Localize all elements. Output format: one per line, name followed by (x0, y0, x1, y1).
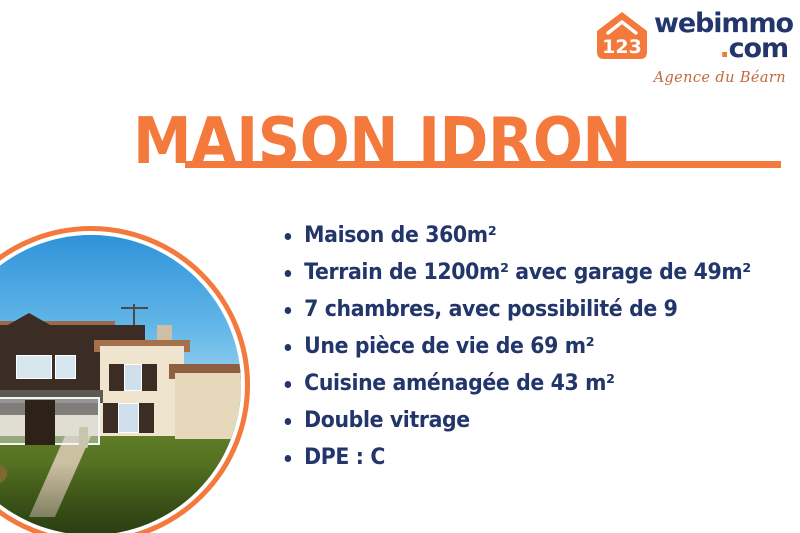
photo-window-wing-upper (124, 364, 142, 391)
photo-entrance-door (25, 400, 55, 445)
photo-garage (175, 373, 241, 439)
photo-flower-pot (187, 499, 214, 523)
brand-logo[interactable]: 123 webimmo .com Agence du Béarn (590, 8, 790, 104)
list-item: Une pièce de vie de 69 m² (280, 333, 750, 361)
logo-word-com: .com (719, 35, 788, 63)
photo-antenna-bar (121, 307, 148, 309)
logo-tagline: Agence du Béarn (654, 70, 786, 86)
photo-shutter-lower-left (103, 403, 118, 433)
logo-row: 123 webimmo .com (590, 8, 790, 66)
property-poster: 123 webimmo .com Agence du Béarn MAISON … (0, 0, 800, 533)
photo-window-wing-lower (118, 403, 139, 433)
house-123-icon: 123 (595, 11, 649, 61)
list-item: Terrain de 1200m² avec garage de 49m² (280, 259, 750, 287)
photo-shutter-upper-right (142, 364, 157, 391)
divider (185, 161, 781, 168)
logo-dot: . (719, 33, 728, 64)
photo-shutter-lower-right (139, 403, 154, 433)
property-photo-image (0, 235, 241, 533)
list-item: DPE : C (280, 444, 750, 472)
list-item: 7 chambres, avec possibilité de 9 (280, 296, 750, 324)
logo-com-text: com (729, 33, 788, 64)
property-photo (0, 226, 250, 533)
list-item: Maison de 360m² (280, 222, 750, 250)
photo-window-upper-left (16, 355, 52, 379)
photo-window-upper-right (55, 355, 76, 379)
list-item: Cuisine aménagée de 43 m² (280, 370, 750, 398)
logo-wordmark: webimmo .com (654, 10, 788, 66)
list-item: Double vitrage (280, 407, 750, 435)
photo-garden-statue (79, 427, 88, 448)
photo-shutter-upper-left (109, 364, 124, 391)
feature-list: Maison de 360m² Terrain de 1200m² avec g… (280, 222, 785, 481)
svg-text:123: 123 (602, 36, 642, 58)
